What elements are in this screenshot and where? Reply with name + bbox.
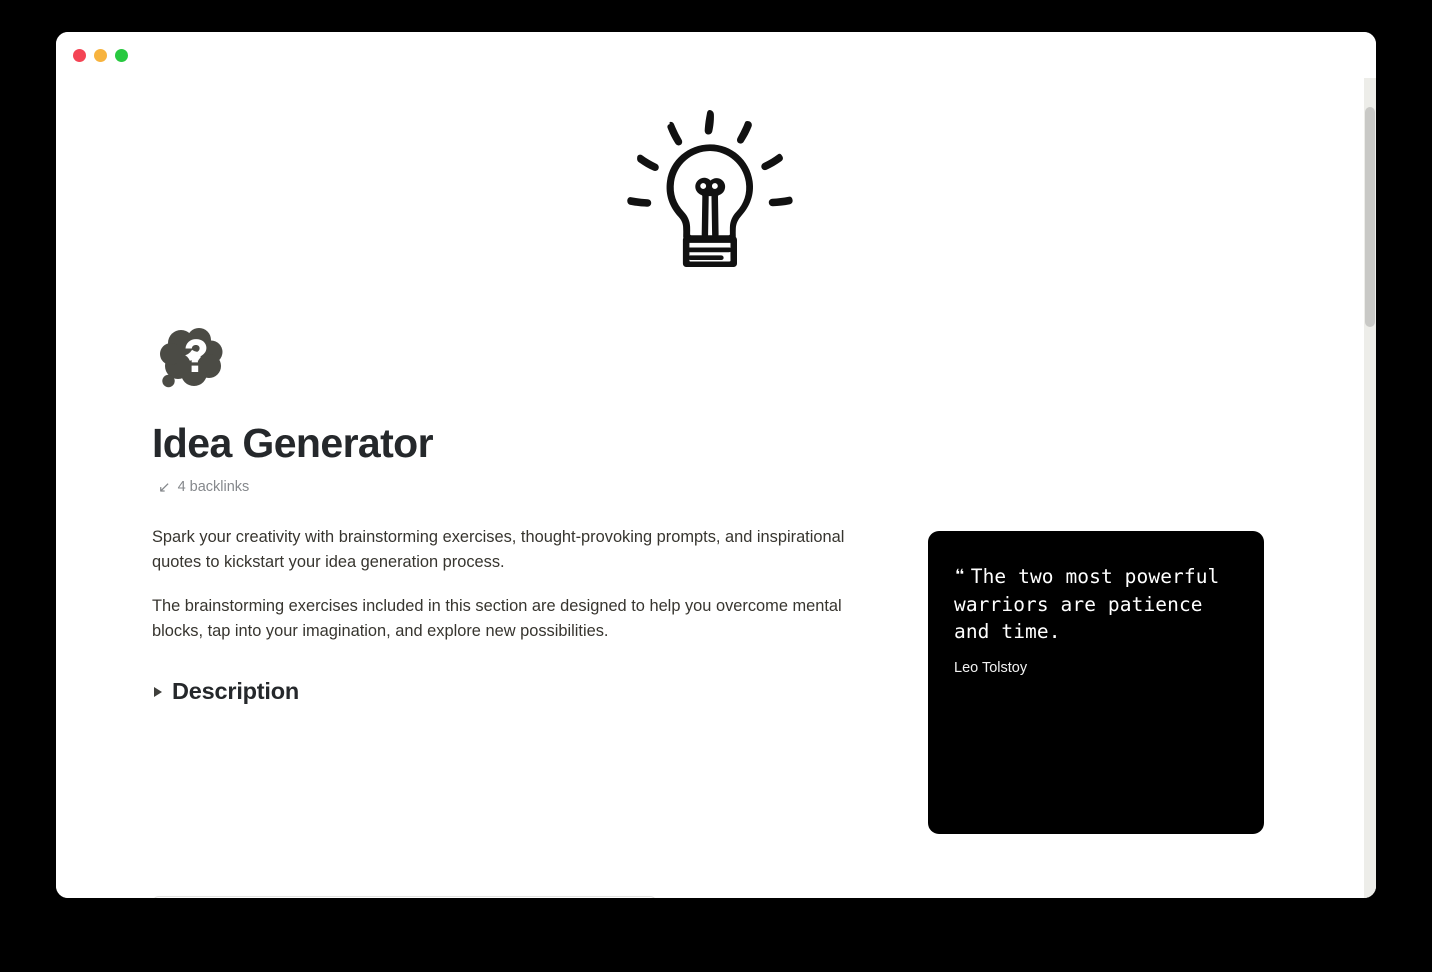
scrollbar-thumb[interactable] [1365, 107, 1375, 327]
maximize-button[interactable] [115, 49, 128, 62]
page-content: Idea Generator ↙ 4 backlinks Spark your … [56, 78, 1364, 898]
backlink-arrow-icon: ↙ [158, 480, 171, 495]
page-scroll-container[interactable]: Idea Generator ↙ 4 backlinks Spark your … [56, 78, 1376, 898]
body-text-column: Spark your creativity with brainstorming… [152, 525, 862, 705]
lightbulb-icon [621, 100, 799, 275]
window-titlebar [56, 32, 1376, 78]
quote-card: ❝The two most powerful warriors are pati… [928, 531, 1264, 834]
quote-author: Leo Tolstoy [954, 660, 1238, 676]
toggle-description[interactable]: Description [152, 678, 862, 705]
page-cover-illustration [152, 78, 1268, 287]
quote-body: The two most powerful warriors are patie… [954, 565, 1219, 643]
quote-text: ❝The two most powerful warriors are pati… [954, 563, 1238, 646]
vertical-scrollbar[interactable] [1364, 78, 1376, 898]
backlinks-label: 4 backlinks [178, 479, 250, 495]
toggle-description-label: Description [172, 678, 299, 705]
embedded-card[interactable] [152, 896, 657, 898]
intro-paragraph-1: Spark your creativity with brainstorming… [152, 525, 852, 574]
page-body: Spark your creativity with brainstorming… [152, 525, 1268, 834]
minimize-button[interactable] [94, 49, 107, 62]
close-button[interactable] [73, 49, 86, 62]
traffic-light-buttons [73, 49, 128, 62]
quote-mark-icon: ❝ [954, 565, 965, 588]
backlinks-link[interactable]: ↙ 4 backlinks [158, 479, 1268, 495]
page-title: Idea Generator [152, 421, 1268, 467]
thought-bubble-question-icon [153, 321, 231, 399]
page-emoji-icon[interactable] [153, 321, 231, 399]
chevron-right-icon[interactable] [154, 687, 162, 697]
intro-paragraph-2: The brainstorming exercises included in … [152, 594, 852, 643]
app-window: Idea Generator ↙ 4 backlinks Spark your … [56, 32, 1376, 898]
